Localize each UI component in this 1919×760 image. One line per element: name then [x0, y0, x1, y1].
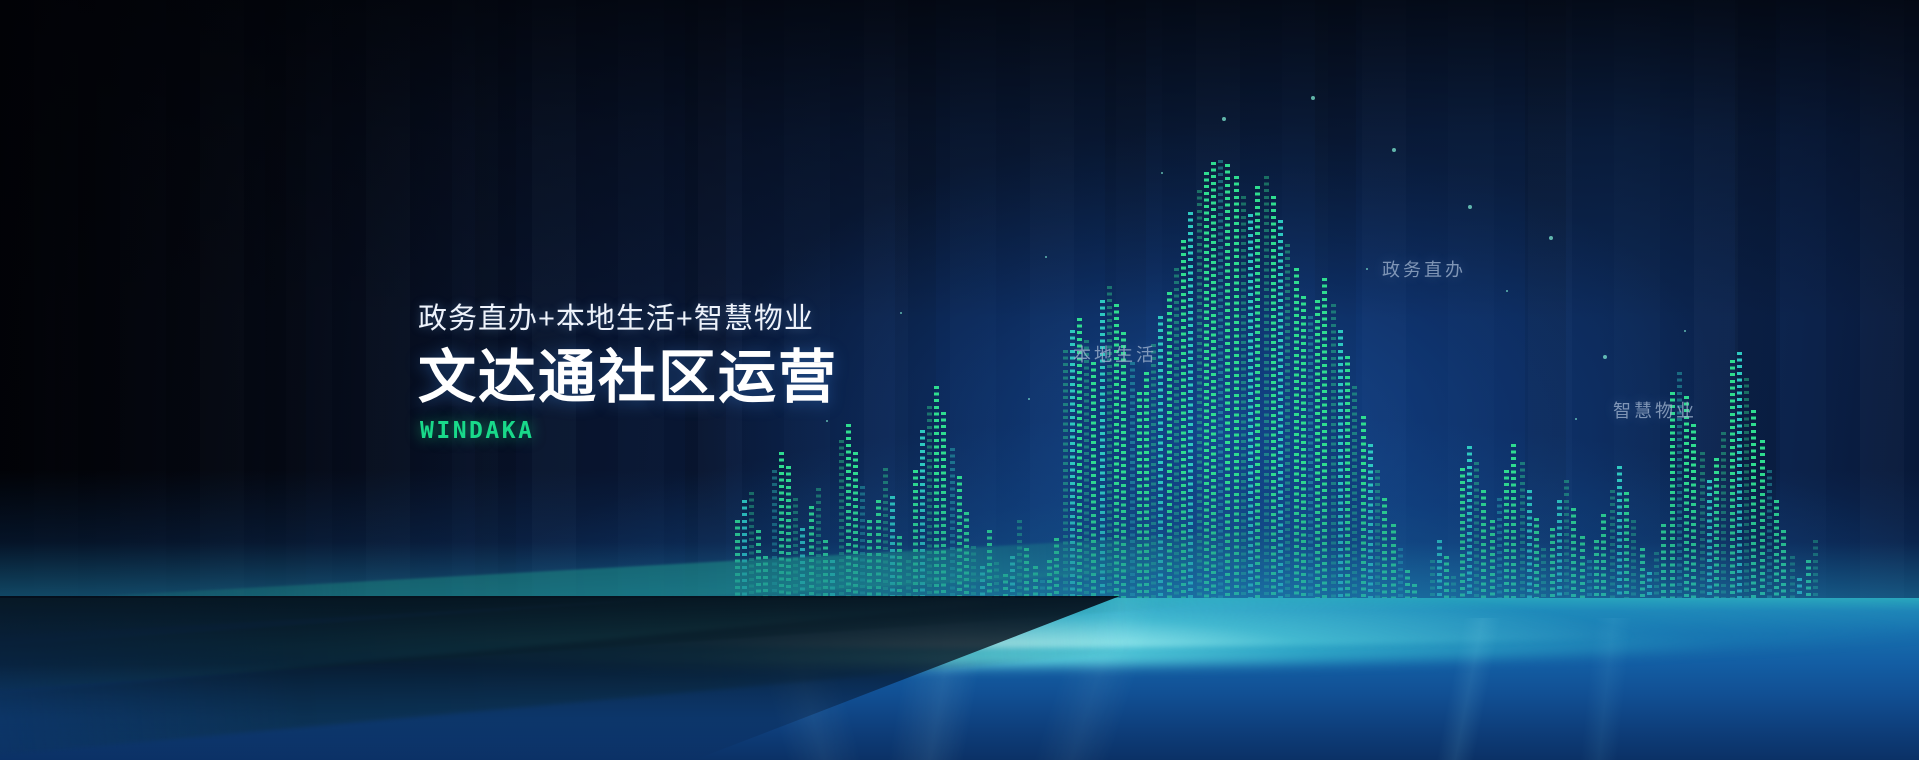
skyline-column — [1301, 296, 1306, 620]
skyline-dot-stack — [1361, 416, 1366, 620]
skyline-column — [1361, 416, 1366, 620]
skyline-dot-stack — [1301, 296, 1306, 620]
skyline-column — [1714, 458, 1719, 620]
skyline-dot-stack — [1511, 444, 1516, 620]
skyline-dot-stack — [1691, 424, 1696, 620]
skyline-dot-stack — [1352, 386, 1357, 620]
dotted-skyline — [0, 0, 1919, 628]
skyline-column — [1684, 396, 1689, 620]
skyline-label-2: 本地生活 — [1073, 341, 1157, 367]
skyline-column — [1730, 360, 1735, 620]
skyline-column — [1331, 304, 1336, 620]
skyline-column — [1751, 410, 1756, 620]
skyline-dot-stack — [1684, 396, 1689, 620]
skyline-column — [1338, 330, 1343, 620]
skyline-column — [1308, 316, 1313, 620]
skyline-dot-stack — [1294, 268, 1299, 620]
banner-title: 文达通社区运营 — [418, 345, 838, 412]
skyline-dot-stack — [1760, 440, 1765, 620]
skyline-dot-stack — [1338, 330, 1343, 620]
skyline-column — [1670, 392, 1675, 620]
skyline-dot-stack — [1368, 444, 1373, 620]
skyline-column — [1700, 452, 1705, 620]
ground-right-rays — [1019, 618, 1919, 760]
skyline-dot-stack — [1331, 304, 1336, 620]
skyline-dot-stack — [1751, 410, 1756, 620]
skyline-dot-stack — [1520, 462, 1525, 620]
skyline-column — [1617, 466, 1622, 620]
skyline-column — [1691, 424, 1696, 620]
skyline-dot-stack — [1700, 452, 1705, 620]
skyline-dot-stack — [1617, 466, 1622, 620]
skyline-column — [1294, 268, 1299, 620]
skyline-dot-stack — [1744, 378, 1749, 620]
skyline-dot-stack — [1467, 446, 1472, 620]
skyline-column — [1737, 352, 1742, 620]
banner-subtitle: 政务直办+本地生活+智慧物业 — [418, 295, 838, 337]
skyline-column — [1322, 278, 1327, 620]
skyline-column — [1474, 462, 1479, 620]
skyline-dot-stack — [1737, 352, 1742, 620]
skyline-column — [1760, 440, 1765, 620]
skyline-column — [1345, 356, 1350, 620]
skyline-column — [1511, 444, 1516, 620]
skyline-column — [1352, 386, 1357, 620]
hero-banner: 政务直办本地生活智慧物业 政务直办+本地生活+智慧物业 文达通社区运营 WIND… — [0, 0, 1919, 760]
brand-wordmark: WINDAKA — [420, 418, 838, 444]
skyline-label-1: 政务直办 — [1382, 256, 1466, 282]
skyline-dot-stack — [1474, 462, 1479, 620]
skyline-dot-stack — [1721, 432, 1726, 620]
skyline-dot-stack — [1345, 356, 1350, 620]
skyline-dot-stack — [1670, 392, 1675, 620]
skyline-column — [1315, 300, 1320, 620]
skyline-dot-stack — [1315, 300, 1320, 620]
banner-copy: 政务直办+本地生活+智慧物业 文达通社区运营 WINDAKA — [418, 295, 838, 444]
skyline-label-3: 智慧物业 — [1613, 397, 1697, 423]
skyline-column — [1520, 462, 1525, 620]
skyline-dot-stack — [1322, 278, 1327, 620]
skyline-column — [1467, 446, 1472, 620]
skyline-column — [1744, 378, 1749, 620]
skyline-dot-stack — [1714, 458, 1719, 620]
skyline-column — [1368, 444, 1373, 620]
skyline-column — [1721, 432, 1726, 620]
skyline-dot-stack — [1308, 316, 1313, 620]
skyline-dot-stack — [1730, 360, 1735, 620]
